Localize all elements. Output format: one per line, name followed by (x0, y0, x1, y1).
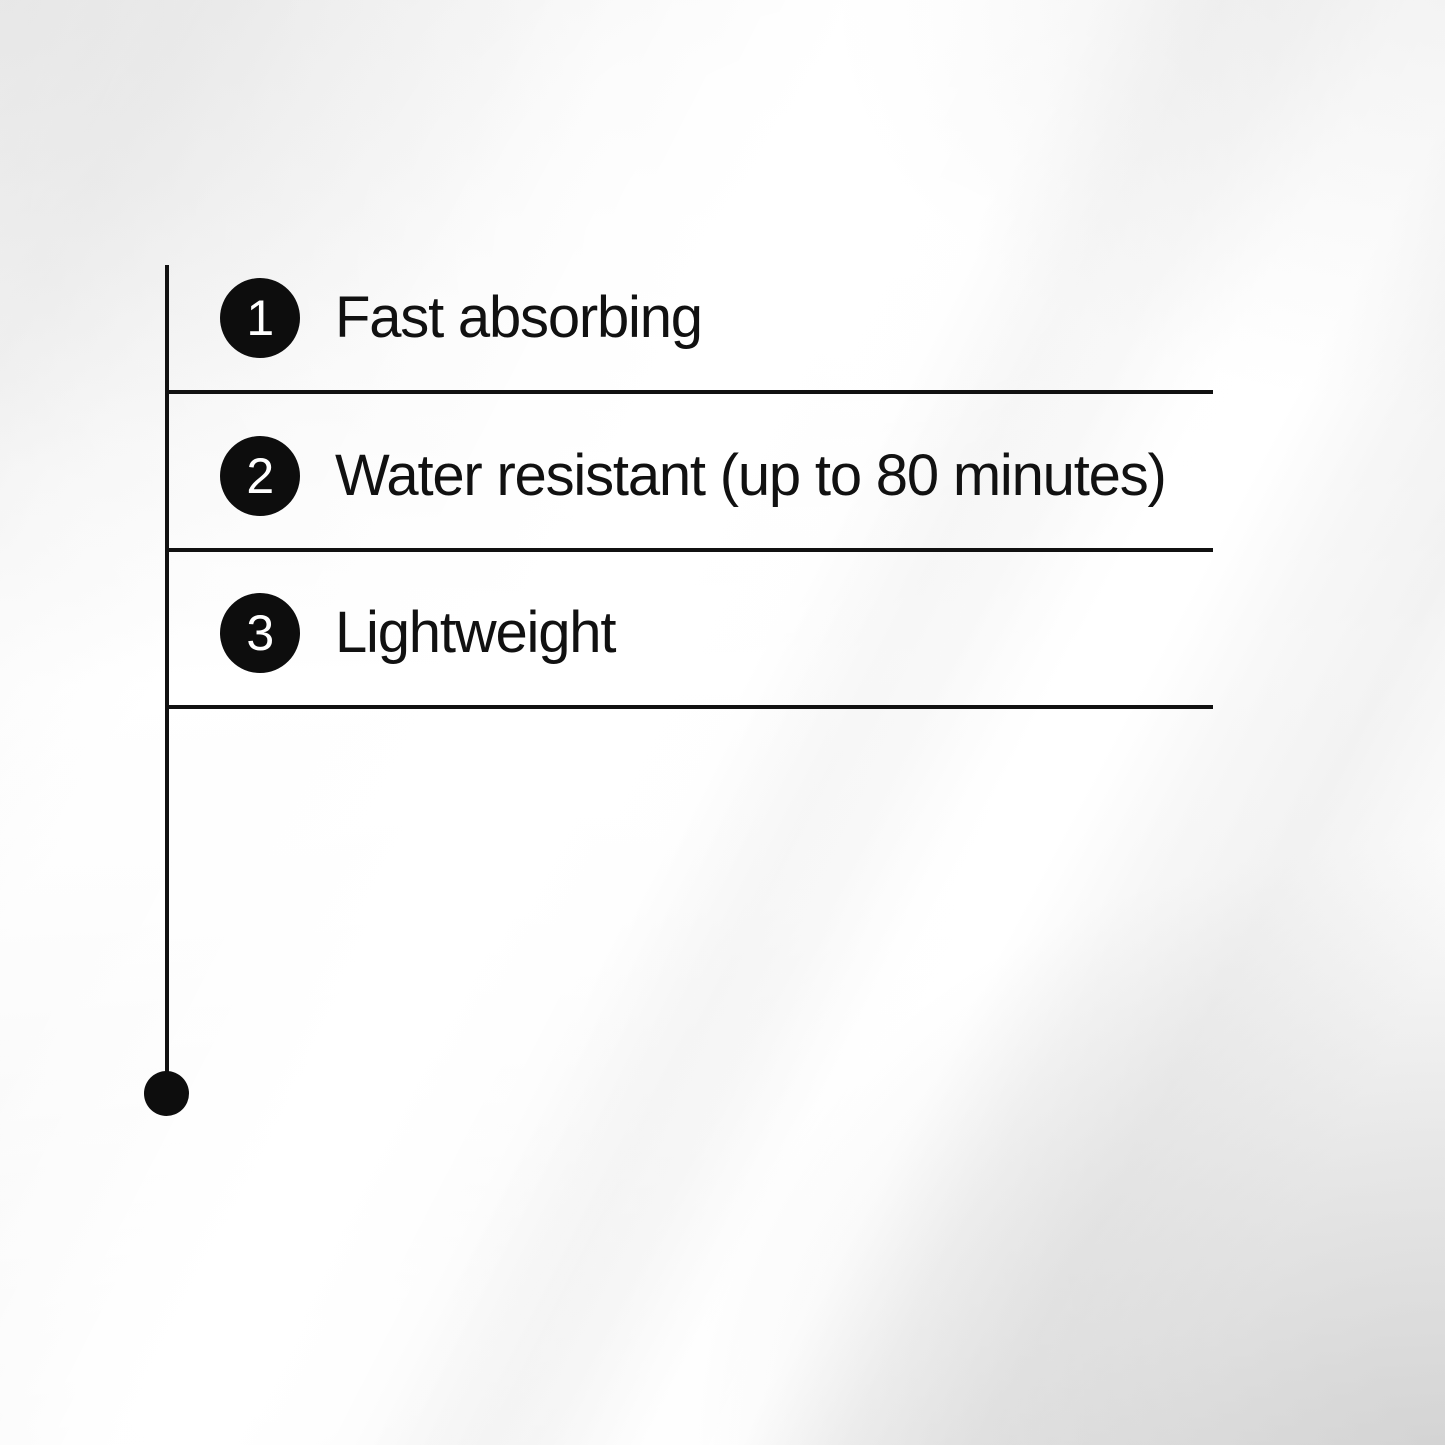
feature-row-3: 3 Lightweight (169, 593, 1213, 673)
feature-list: 1 Fast absorbing 2 Water resistant (up t… (0, 0, 1445, 1445)
feature-label-1: Fast absorbing (335, 288, 702, 349)
feature-divider-3 (169, 705, 1213, 709)
feature-number-badge-3: 3 (220, 593, 300, 673)
feature-row-1: 1 Fast absorbing (169, 278, 1213, 358)
feature-label-3: Lightweight (335, 603, 615, 664)
feature-number-badge-2: 2 (220, 436, 300, 516)
feature-label-2: Water resistant (up to 80 minutes) (335, 446, 1166, 507)
product-benefits-graphic: 1 Fast absorbing 2 Water resistant (up t… (0, 0, 1445, 1445)
feature-divider-2 (169, 548, 1213, 552)
feature-divider-1 (169, 390, 1213, 394)
spine-end-dot (144, 1071, 189, 1116)
feature-number-badge-1: 1 (220, 278, 300, 358)
feature-row-2: 2 Water resistant (up to 80 minutes) (169, 436, 1213, 516)
